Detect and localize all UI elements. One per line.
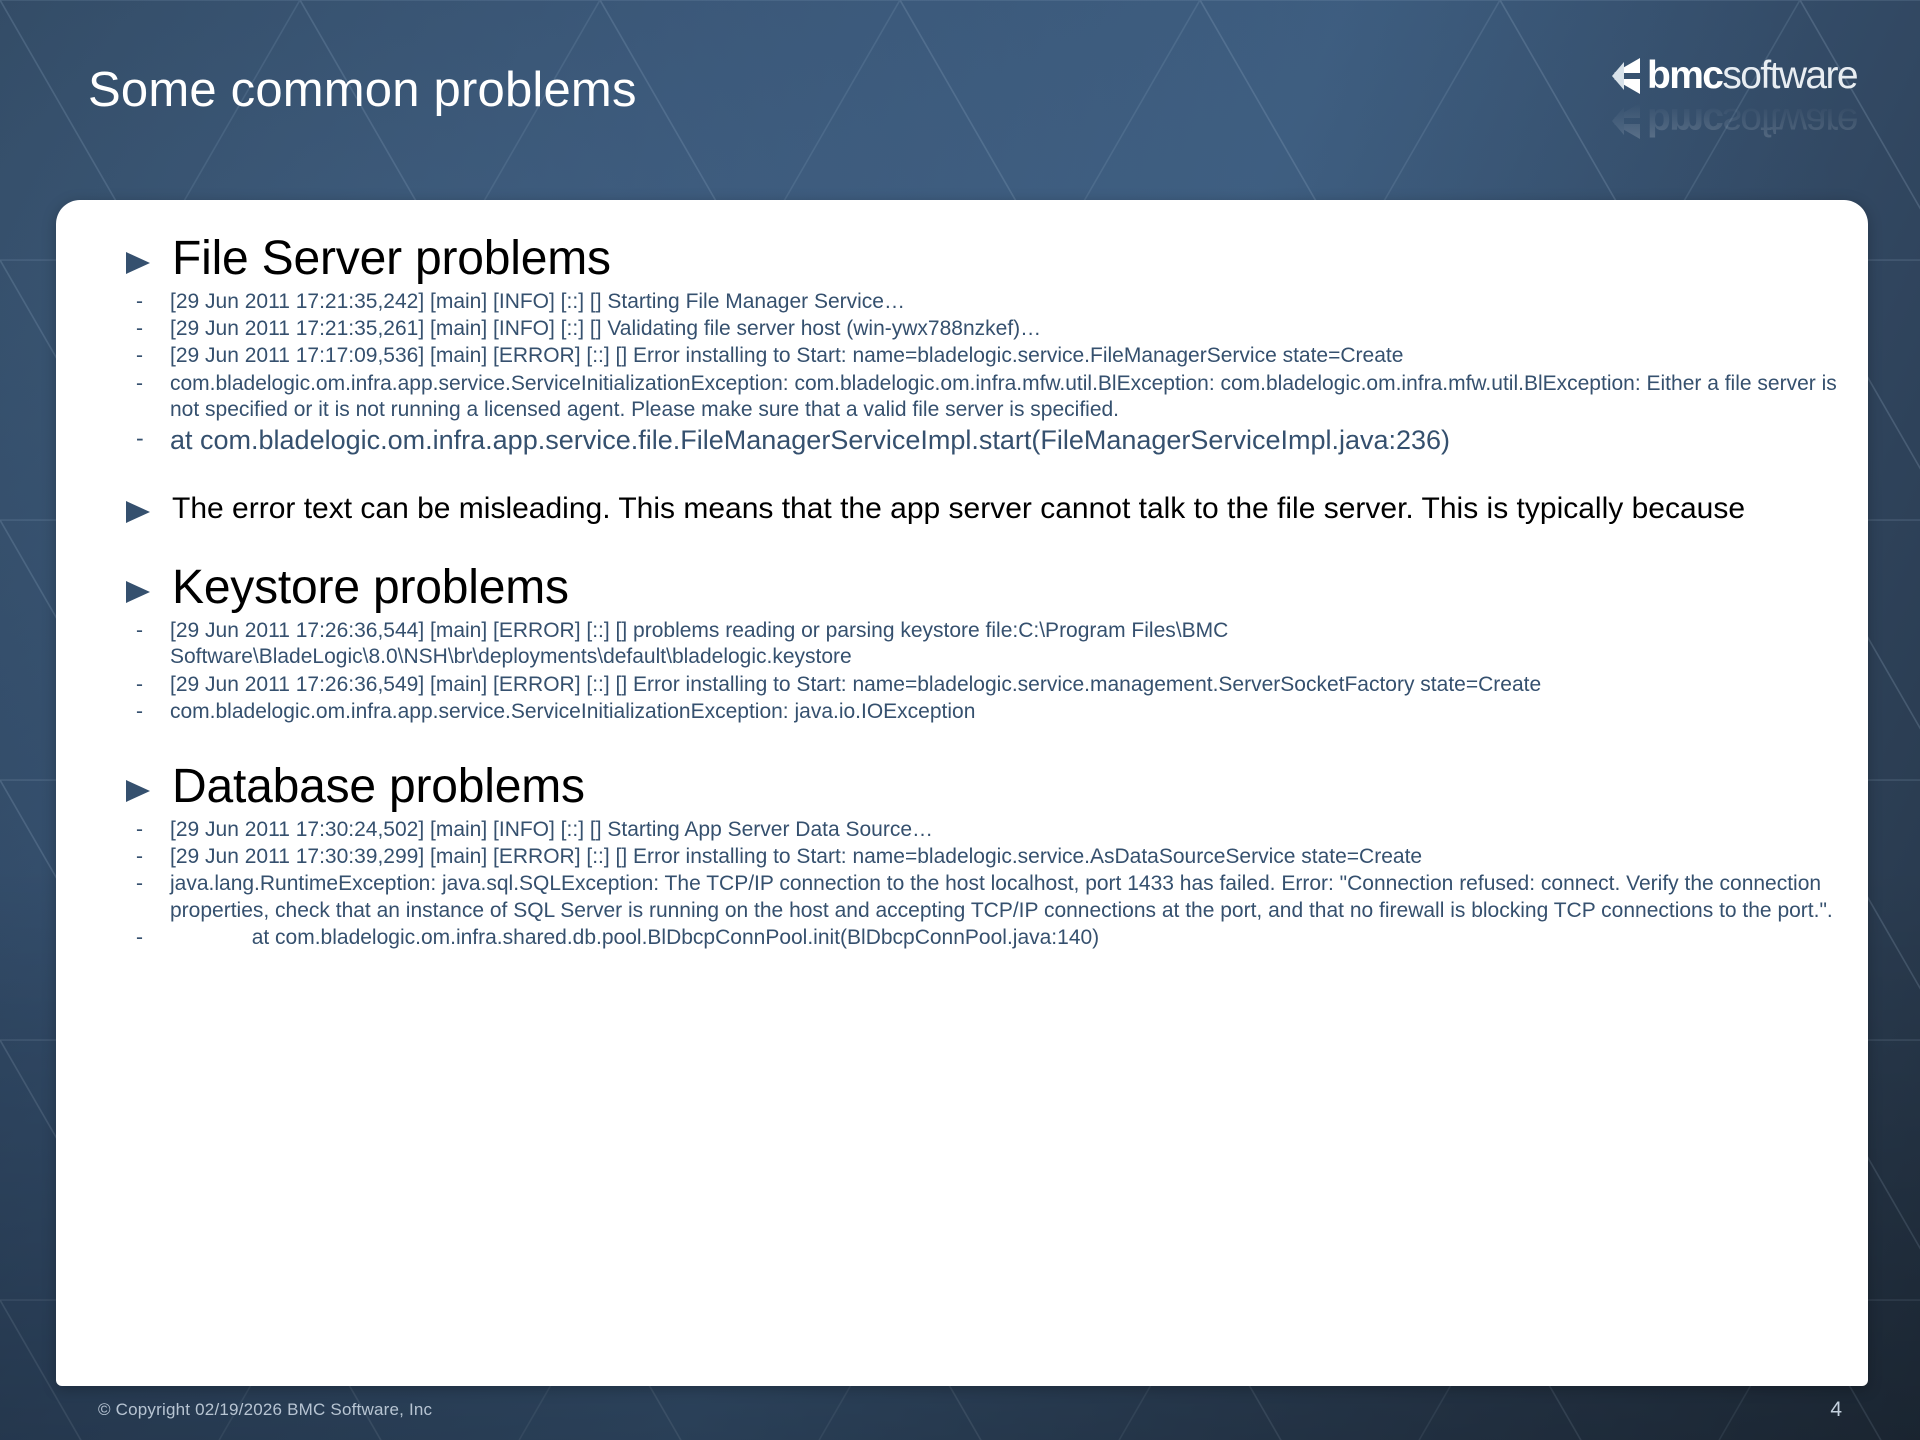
section-keystore: Keystore problems [124,563,1846,614]
content-card: File Server problems - [29 Jun 2011 17:2… [56,200,1868,1386]
bmc-triangle-mark-reflection-icon [1604,101,1644,141]
section-database: Database problems [124,762,1846,813]
dash-bullet: - [124,424,170,453]
note-text: The error text can be misleading. This m… [172,483,1745,528]
log-line: - java.lang.RuntimeException: java.sql.S… [124,871,1846,924]
dash-bullet: - [124,343,170,369]
footer-copyright: © Copyright 02/19/2026 BMC Software, Inc [98,1400,432,1420]
logo-wordmark: bmcsoftware [1647,56,1857,96]
bmc-triangle-mark-icon [1604,56,1644,96]
log-line-text: com.bladelogic.om.infra.app.service.Serv… [170,699,1846,725]
log-line-text: [29 Jun 2011 17:21:35,242] [main] [INFO]… [170,289,1846,315]
bmc-software-logo: bmcsoftware bmcsoftware [1604,52,1872,148]
log-list-file-server: - [29 Jun 2011 17:21:35,242] [main] [INF… [124,289,1846,458]
log-line-text: at com.bladelogic.om.infra.app.service.f… [170,424,1846,457]
page-title: Some common problems [88,62,637,118]
log-line: - at com.bladelogic.om.infra.app.service… [124,424,1846,457]
log-line-text: com.bladelogic.om.infra.app.service.Serv… [170,371,1846,424]
log-line-text: [29 Jun 2011 17:30:39,299] [main] [ERROR… [170,844,1846,870]
logo-bold-text-reflection: bmc [1647,101,1722,143]
triangle-bullet-icon [124,483,158,525]
log-line-text: [29 Jun 2011 17:30:24,502] [main] [INFO]… [170,817,1846,843]
log-line-text: [29 Jun 2011 17:26:36,549] [main] [ERROR… [170,672,1846,698]
slide: Some common problems bmcsoftware bmcsoft… [0,0,1920,1440]
log-line: - com.bladelogic.om.infra.app.service.Se… [124,699,1846,725]
triangle-bullet-icon [124,762,158,804]
section-heading: Keystore problems [172,563,569,614]
dash-bullet: - [124,289,170,315]
dash-bullet: - [124,316,170,342]
log-line: - [29 Jun 2011 17:30:39,299] [main] [ERR… [124,844,1846,870]
log-line: - at com.bladelogic.om.infra.shared.db.p… [124,925,1846,951]
logo-bold-text: bmc [1647,54,1722,97]
log-line-text: [29 Jun 2011 17:21:35,261] [main] [INFO]… [170,316,1846,342]
section-file-server: File Server problems [124,234,1846,285]
log-line: - [29 Jun 2011 17:21:35,261] [main] [INF… [124,316,1846,342]
logo-light-text: software [1722,54,1857,97]
log-line-text: java.lang.RuntimeException: java.sql.SQL… [170,871,1846,924]
log-line-text: [29 Jun 2011 17:17:09,536] [main] [ERROR… [170,343,1846,369]
log-line-text: [29 Jun 2011 17:26:36,544] [main] [ERROR… [170,618,1846,671]
log-line: - [29 Jun 2011 17:30:24,502] [main] [INF… [124,817,1846,843]
triangle-bullet-icon [124,563,158,605]
logo-main: bmcsoftware [1604,52,1872,100]
log-line: - [29 Jun 2011 17:26:36,549] [main] [ERR… [124,672,1846,698]
dash-bullet: - [124,672,170,698]
log-list-keystore: - [29 Jun 2011 17:26:36,544] [main] [ERR… [124,618,1846,725]
logo-light-text-reflection: software [1722,101,1857,143]
note-bullet: The error text can be misleading. This m… [124,483,1846,528]
footer-page-number: 4 [1830,1398,1842,1422]
dash-bullet: - [124,371,170,397]
section-heading: Database problems [172,762,585,813]
dash-bullet: - [124,925,170,951]
content-body: File Server problems - [29 Jun 2011 17:2… [124,224,1846,952]
triangle-bullet-icon [124,234,158,276]
section-heading: File Server problems [172,234,611,285]
dash-bullet: - [124,817,170,843]
log-list-database: - [29 Jun 2011 17:30:24,502] [main] [INF… [124,817,1846,951]
log-line: - [29 Jun 2011 17:26:36,544] [main] [ERR… [124,618,1846,671]
log-line: - [29 Jun 2011 17:21:35,242] [main] [INF… [124,289,1846,315]
dash-bullet: - [124,871,170,897]
dash-bullet: - [124,699,170,725]
log-line: - com.bladelogic.om.infra.app.service.Se… [124,371,1846,424]
dash-bullet: - [124,618,170,644]
dash-bullet: - [124,844,170,870]
log-line-text: at com.bladelogic.om.infra.shared.db.poo… [170,925,1846,951]
log-line: - [29 Jun 2011 17:17:09,536] [main] [ERR… [124,343,1846,369]
logo-reflection: bmcsoftware [1604,101,1872,145]
